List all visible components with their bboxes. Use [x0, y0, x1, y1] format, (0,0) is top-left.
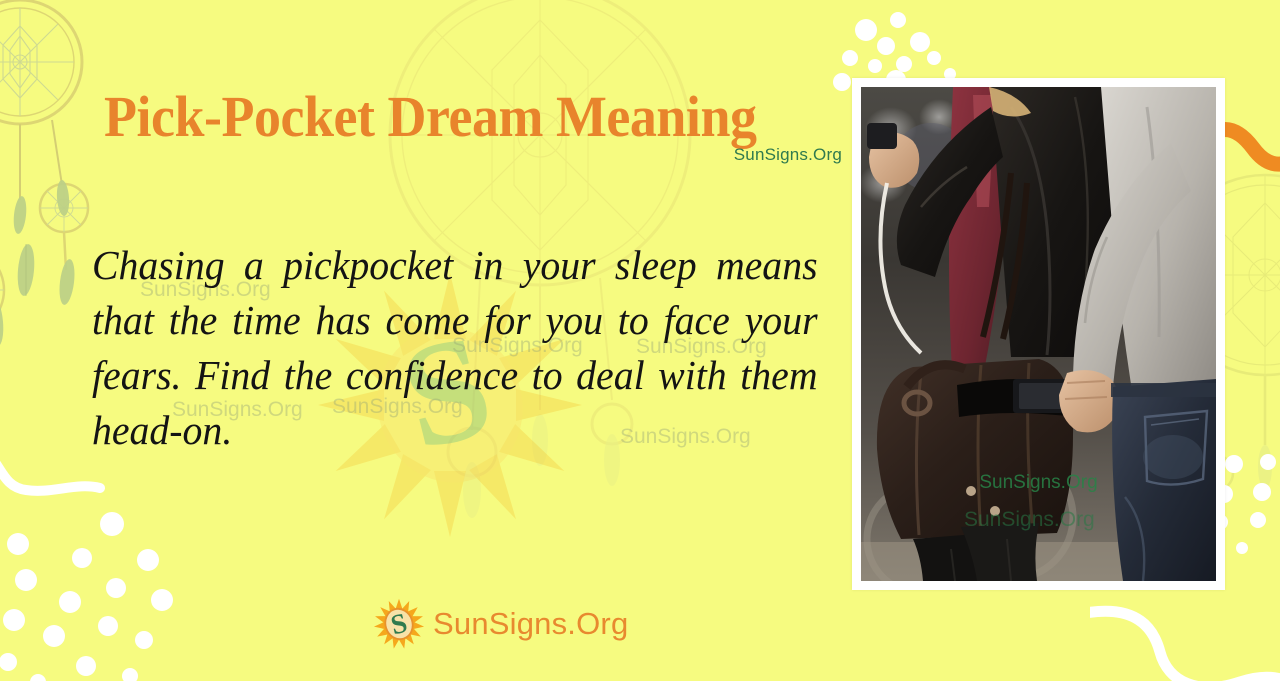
footer-logo[interactable]: S SunSigns.Org [372, 597, 628, 651]
wave-line-icon [1090, 600, 1280, 681]
title-block: Pick-Pocket Dream Meaning SunSigns.Org [104, 88, 864, 146]
body-text: Chasing a pickpocket in your sleep means… [92, 238, 818, 458]
pickpocket-photo: SunSigns.Org [861, 87, 1216, 581]
sun-logo-icon: S [372, 597, 426, 651]
footer-brand-text: SunSigns.Org [433, 606, 628, 642]
dot-cluster-icon [0, 510, 190, 681]
title-watermark: SunSigns.Org [734, 145, 842, 165]
banner-root: S [0, 0, 1280, 681]
photo-frame: SunSigns.Org [852, 78, 1225, 590]
page-title: Pick-Pocket Dream Meaning [104, 88, 811, 146]
